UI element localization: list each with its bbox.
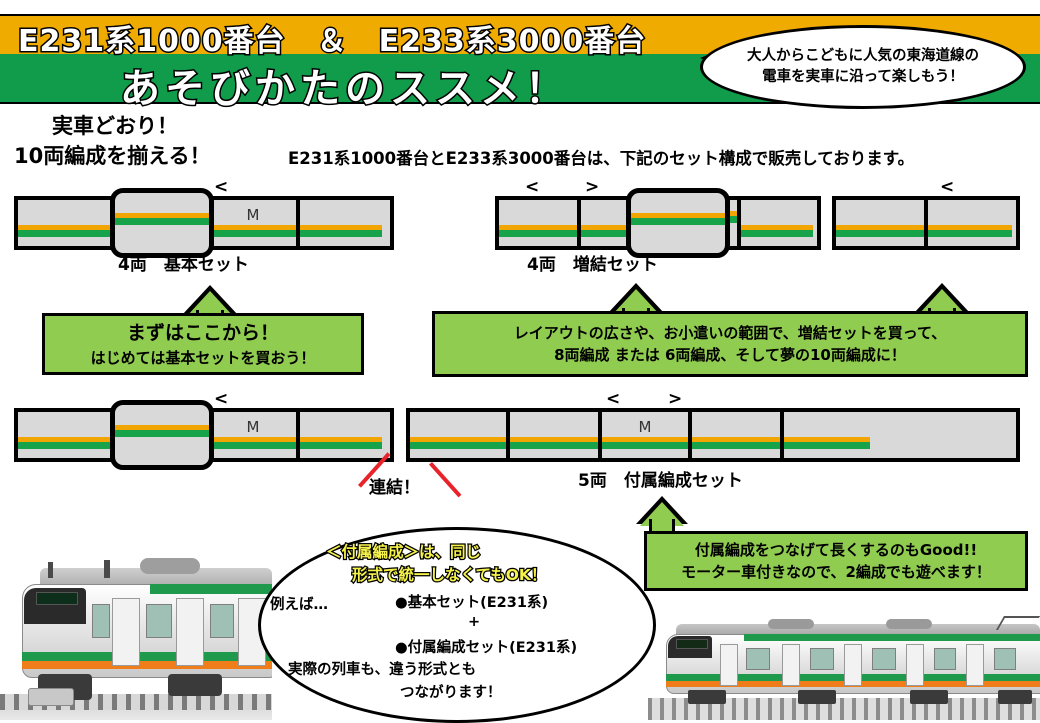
oval-plus: +	[468, 614, 480, 630]
oval-item1: ●基本セット(E231系)	[395, 591, 548, 612]
green-stripe-upper	[744, 634, 1040, 641]
callout-third-line1: 付属編成をつなげて長くするのもGood!!	[681, 539, 991, 562]
train-car	[410, 412, 506, 458]
train-window	[934, 648, 956, 670]
train-door	[906, 644, 924, 686]
callout-first-line2: はじめては基本セットを買おう！	[91, 347, 316, 370]
header-bubble-line2: 電車を実車に沿って楽しもう！	[747, 67, 979, 88]
oval-highlight-line1: ＜付属編成＞は、同じ	[326, 540, 481, 562]
train-car	[506, 412, 598, 458]
roof-aircon	[140, 558, 200, 574]
pantograph-icon: <	[940, 179, 954, 196]
callout-third: 付属編成をつなげて長くするのもGood!! モーター車付きなので、2編成でも遊べ…	[644, 531, 1028, 591]
attached-set-cars: M	[406, 408, 1020, 462]
orange-stripe	[22, 661, 272, 669]
oval-item2: ●付属編成セット(E231系)	[395, 636, 577, 657]
train-window	[746, 648, 770, 670]
train-basic-set-bottom: M <	[14, 408, 394, 462]
oval-example-label: 例えば…	[270, 593, 328, 614]
roof-antenna	[104, 560, 110, 578]
train-window	[92, 604, 110, 638]
train-window	[146, 604, 172, 638]
coupler-skirt	[28, 688, 74, 706]
callout-first: まずはここから！ はじめては基本セットを買おう！	[42, 313, 364, 375]
page-title-line2: あそびかたのススメ！	[120, 56, 570, 114]
callout-second-line1: レイアウトの広さや、お小遣いの範囲で、増結セットを買って、	[514, 322, 946, 345]
train-window	[210, 604, 234, 638]
oval-highlight-line2: 形式で統一しなくてもOK！	[352, 563, 546, 585]
pantograph-icon: >	[585, 179, 599, 196]
train-car	[18, 200, 112, 246]
intro-line2: 10両編成を揃える！	[14, 140, 211, 170]
train-door	[844, 644, 862, 686]
photo-e231-consist	[648, 608, 1040, 720]
train-car	[18, 412, 112, 458]
train-car	[499, 200, 577, 246]
coupling-line-right	[429, 462, 461, 497]
train-door	[782, 644, 800, 686]
bubble-tail-fill	[712, 47, 740, 67]
train-door	[112, 598, 140, 666]
oval-note2: つながります！	[400, 681, 502, 702]
train-attached-set: M < >	[406, 408, 1020, 462]
motor-car-label: M	[247, 418, 260, 436]
callout-third-line2: モーター車付きなので、2編成でも遊べます！	[681, 561, 991, 584]
motor-car-label: M	[639, 418, 652, 436]
callout-third-text: 付属編成をつなげて長くするのもGood!! モーター車付きなので、2編成でも遊べ…	[681, 539, 991, 584]
train-door	[966, 644, 984, 686]
motor-car-highlight-box	[110, 400, 214, 470]
callout-first-line1: まずはここから！	[91, 319, 316, 348]
motor-car-label: M	[247, 206, 260, 224]
intro-description: E231系1000番台とE233系3000番台は、下記のセット構成で販売しており…	[288, 145, 914, 169]
train-car	[688, 412, 780, 458]
train-car	[836, 200, 924, 246]
green-stripe-upper	[150, 584, 272, 594]
train-car-motor: M	[598, 412, 688, 458]
callout-second-line2: 8両編成 または 6両編成、そして夢の10両編成に！	[514, 344, 946, 367]
photo-e233-front	[0, 538, 272, 720]
motor-car-highlight-box	[626, 188, 730, 258]
train-car	[296, 200, 382, 246]
train-car-motor: M	[206, 412, 296, 458]
train-car	[737, 200, 813, 246]
bogie	[798, 690, 836, 704]
train-door	[176, 598, 204, 666]
bogie	[910, 690, 948, 704]
train-addon-set: < >	[495, 196, 821, 250]
bogie	[168, 674, 222, 696]
train-car	[296, 412, 382, 458]
pantograph-icon: <	[214, 179, 228, 196]
motor-car-highlight-box	[110, 188, 214, 258]
train-car-motor: M	[206, 200, 296, 246]
attached-set-label: 5両 付属編成セット	[578, 466, 743, 491]
extra-pair-cars	[832, 196, 1020, 250]
train-car	[780, 412, 870, 458]
destination-sign	[676, 639, 708, 649]
oval-note1: 実際の列車も、違う形式とも	[288, 658, 476, 679]
train-window	[810, 648, 834, 670]
coupling-label: 連結！	[369, 473, 420, 498]
green-stripe	[22, 652, 272, 661]
train-car	[924, 200, 1012, 246]
train-door	[720, 644, 738, 686]
train-basic-set: M <	[14, 196, 394, 250]
bogie	[998, 690, 1032, 704]
page-title-line1: E231系1000番台 ＆ E233系3000番台	[18, 16, 646, 60]
destination-sign	[36, 592, 78, 605]
train-window	[994, 648, 1016, 670]
header-bubble-line1: 大人からこどもに人気の東海道線の	[747, 46, 979, 67]
callout-second-text: レイアウトの広さや、お小遣いの範囲で、増結セットを買って、 8両編成 または 6…	[514, 322, 946, 367]
pantograph-icon: <	[525, 179, 539, 196]
roof-aircon	[768, 619, 814, 629]
roof-aircon	[886, 619, 932, 629]
roof-antenna	[48, 562, 53, 578]
callout-first-text: まずはここから！ はじめては基本セットを買おう！	[91, 319, 316, 370]
pantograph-icon: <	[606, 391, 620, 408]
intro-line1: 実車どおり！	[52, 110, 178, 140]
header-speech-bubble: 大人からこどもに人気の東海道線の 電車を実車に沿って楽しもう！	[700, 25, 1026, 109]
train-extra-pair: <	[832, 196, 1020, 250]
header-bubble-text: 大人からこどもに人気の東海道線の 電車を実車に沿って楽しもう！	[747, 46, 979, 88]
pantograph-icon: <	[214, 391, 228, 408]
train-window	[872, 648, 896, 670]
pantograph-icon: >	[668, 391, 682, 408]
callout-second: レイアウトの広さや、お小遣いの範囲で、増結セットを買って、 8両編成 または 6…	[432, 311, 1028, 377]
bogie	[688, 690, 726, 704]
